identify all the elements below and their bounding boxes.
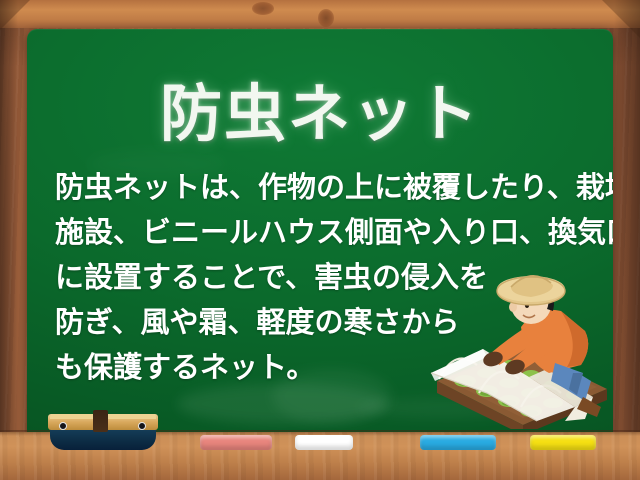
eraser-screw-left-icon — [59, 422, 67, 430]
eraser-handle-strap — [93, 410, 108, 432]
chalkboard-surface: 防虫ネット 防虫ネットは、作物の上に被覆したり、栽培 施設、ビニールハウス側面や… — [27, 29, 613, 450]
chalk-yellow[interactable] — [530, 435, 596, 450]
frame-corner-bevel-left — [0, 0, 30, 30]
body-line: 防虫ネットは、作物の上に被覆したり、栽培 — [55, 165, 600, 210]
chalk-blue[interactable] — [420, 435, 496, 450]
frame-right-shadow — [614, 0, 640, 480]
wood-knot-icon — [252, 2, 274, 15]
chalkboard-poster: 防虫ネット 防虫ネットは、作物の上に被覆したり、栽培 施設、ビニールハウス側面や… — [0, 0, 640, 480]
page-title: 防虫ネット — [27, 63, 613, 153]
farmer-installing-insect-net-illustration — [425, 269, 613, 429]
frame-left-shadow — [0, 0, 18, 480]
chalk-smudge — [177, 384, 387, 424]
chalk-pink[interactable] — [200, 435, 272, 450]
body-line: 施設、ビニールハウス側面や入り口、換気口 — [55, 210, 600, 255]
frame-top-rail — [0, 0, 640, 28]
blackboard-eraser[interactable] — [48, 410, 158, 450]
wood-knot-secondary-icon — [318, 9, 334, 27]
eraser-screw-right-icon — [138, 422, 146, 430]
chalk-white[interactable] — [295, 435, 353, 450]
